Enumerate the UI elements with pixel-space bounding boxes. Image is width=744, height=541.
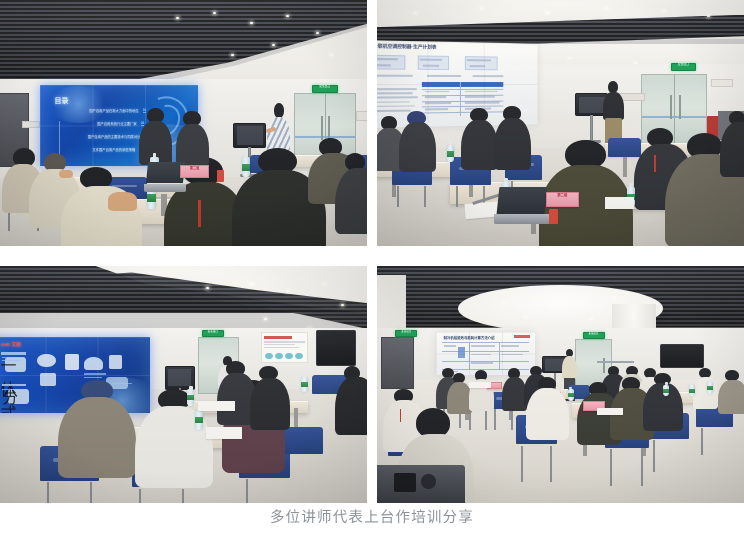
wall-plate — [711, 79, 733, 88]
table-tent-card: 第二组 — [546, 192, 579, 207]
attendee — [718, 370, 744, 413]
papers — [597, 408, 623, 415]
attendee — [645, 373, 682, 430]
exit-sign-icon: 安全出口 — [312, 85, 338, 93]
toc-row: 国产自用产品在新大力面中的地位 01 — [89, 108, 146, 113]
papers — [469, 382, 491, 388]
water-bottle — [447, 145, 454, 162]
attendee — [693, 368, 719, 408]
chair — [279, 427, 323, 474]
water-bottle — [663, 385, 669, 397]
wall-poster — [261, 332, 309, 363]
attendee — [239, 148, 320, 246]
tv-panel — [660, 344, 704, 368]
red-cup — [549, 209, 557, 224]
exit-sign-icon: 安全出口 — [202, 330, 224, 337]
laptop — [147, 162, 184, 192]
photo-bottom-left[interactable]: AHE 艾驰 一体式 电磁流量计 分体式 电磁流量计 — [0, 266, 367, 503]
camera-monitor — [377, 465, 465, 503]
water-bottle — [689, 385, 695, 397]
water-bottle — [301, 377, 308, 391]
exit-sign-icon: 安全出口 — [671, 63, 697, 71]
laptop — [498, 187, 546, 224]
photo-bottom-right[interactable]: 制冷机组能效与能耗计算方法介绍 — [377, 266, 744, 503]
slide-title: 目录 — [55, 98, 69, 105]
attendee — [338, 153, 367, 232]
photo-top-right[interactable]: 全联机空调控制器·生产计划表 — [377, 0, 744, 246]
water-bottle — [195, 411, 203, 430]
attendee — [399, 111, 436, 170]
screen-brand: AHE 艾驰 — [1, 342, 21, 348]
toc-row: 国产自用系统行业主要厂家 02 — [97, 121, 144, 126]
photo-gallery-page: 目录 国产自用产品在新大力面中的地位 01 国产自用系统行业主要厂家 02 国产… — [0, 0, 744, 541]
table-tent-card: 第二组 — [180, 165, 209, 179]
notebook — [206, 427, 243, 439]
gallery-caption: 多位讲师代表上台作培训分享 — [0, 506, 744, 527]
railing — [597, 361, 634, 363]
exit-sign-icon: 安全出口 — [583, 332, 605, 339]
attendee — [527, 377, 567, 439]
photo-top-left[interactable]: 目录 国产自用产品在新大力面中的地位 01 国产自用系统行业主要厂家 02 国产… — [0, 0, 367, 246]
attendee — [722, 111, 744, 175]
attendee — [62, 380, 132, 475]
exit-sign-icon: 安全出口 — [395, 330, 417, 337]
attendee — [62, 167, 143, 246]
notebook — [198, 401, 235, 410]
attendee — [176, 111, 209, 165]
toc-row: 文件国产自用产品的销售策略 04 — [92, 147, 143, 152]
water-bottle — [187, 389, 194, 406]
attendee — [250, 366, 290, 428]
papers — [605, 197, 634, 209]
screen-caption: 一体式 电磁流量计 — [1, 352, 26, 354]
attendee — [338, 366, 367, 432]
water-bottle — [568, 389, 574, 401]
screen-caption: 分体式 电磁流量计 — [2, 384, 26, 386]
water-bottle — [707, 382, 713, 394]
water-bottle — [242, 157, 250, 177]
attendee — [461, 108, 498, 167]
metal-door — [381, 337, 414, 389]
red-cup — [217, 170, 224, 182]
attendee — [494, 106, 531, 168]
wall-plate — [356, 111, 367, 121]
attendee — [469, 370, 495, 410]
photo-grid: 目录 国产自用产品在新大力面中的地位 01 国产自用系统行业主要厂家 02 国产… — [0, 0, 744, 503]
tv-panel — [316, 330, 356, 366]
door-sign — [22, 121, 40, 128]
